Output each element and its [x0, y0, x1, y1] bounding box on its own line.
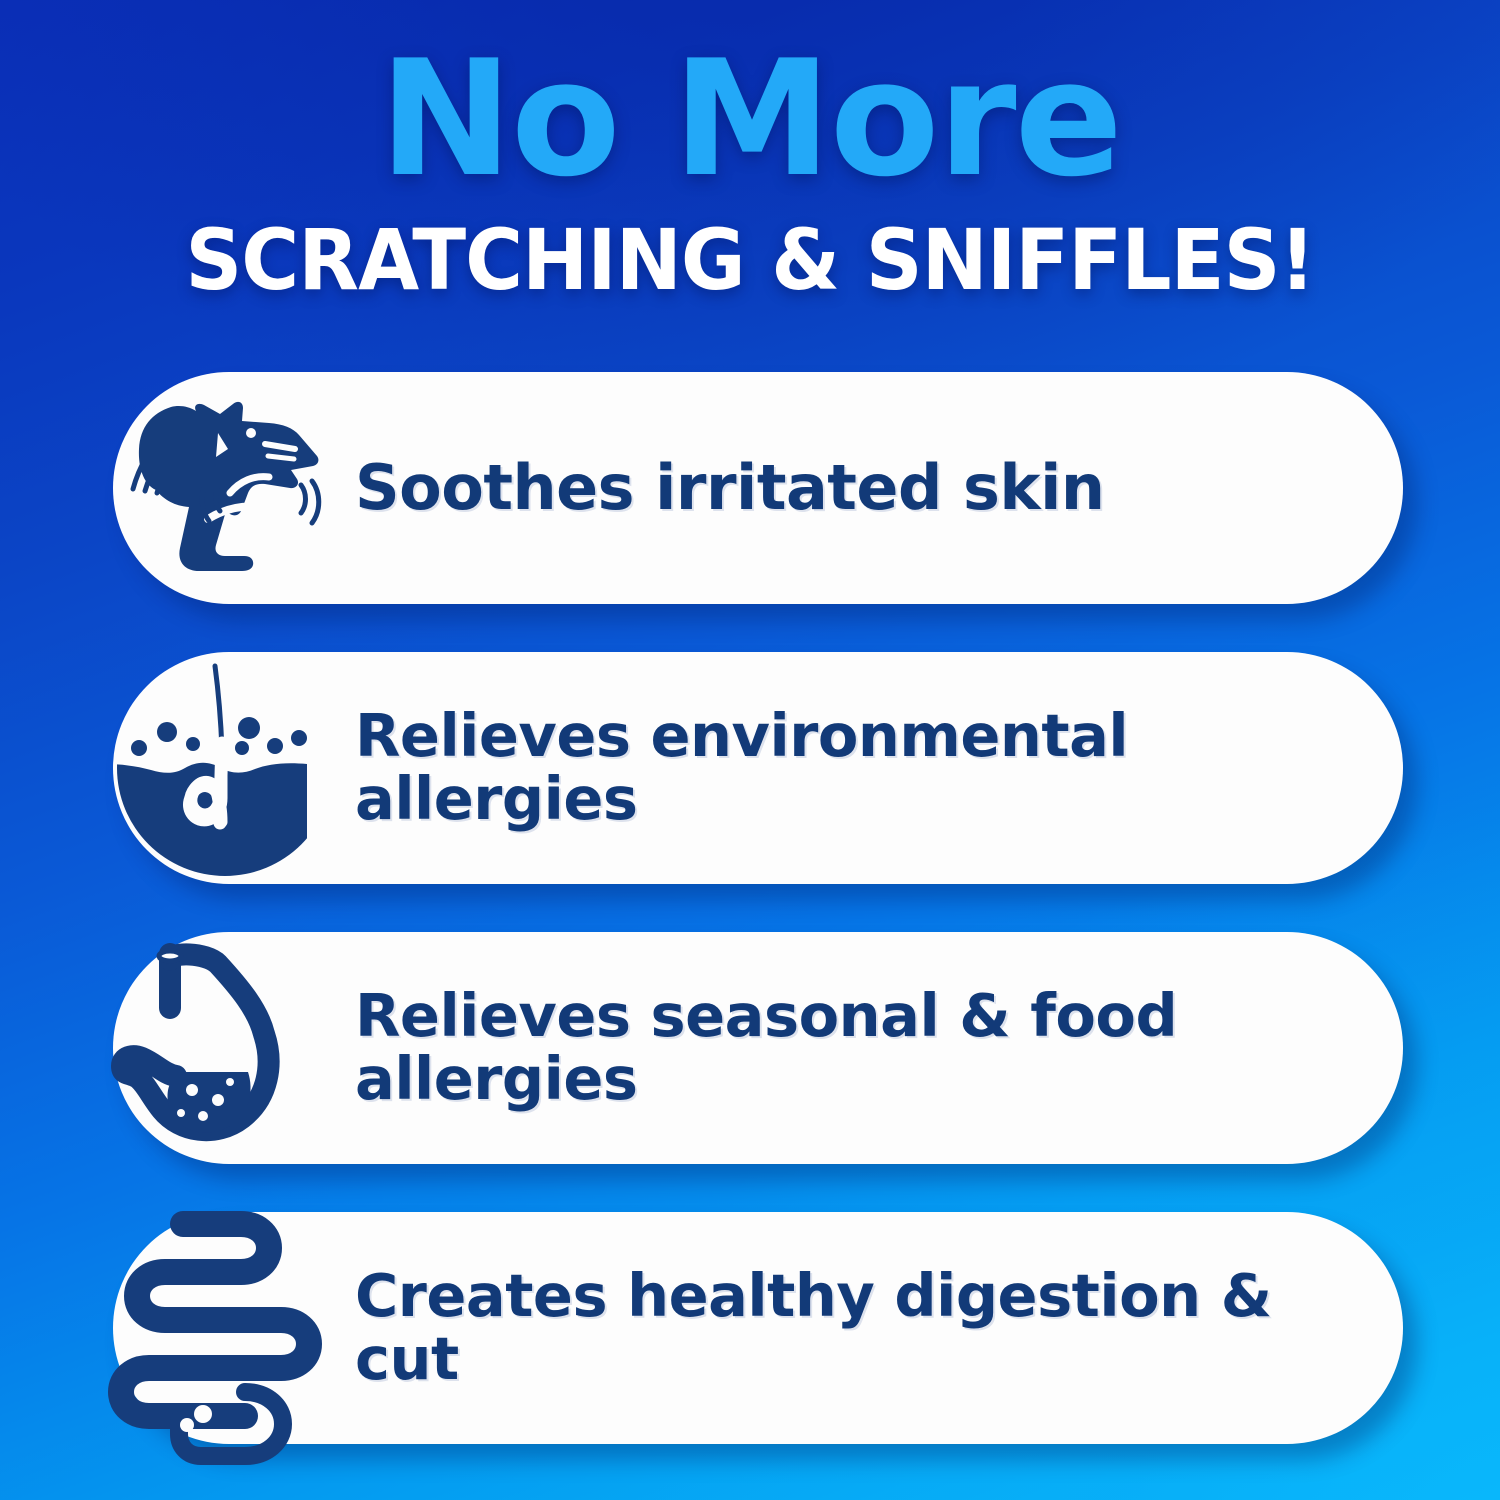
list-item[interactable]: Soothes irritated skin — [113, 372, 1403, 604]
list-item[interactable]: Relieves seasonal & food allergies — [113, 932, 1403, 1164]
benefits-list: Soothes irritated skin — [113, 372, 1403, 1444]
list-item-label: Relieves environmental allergies — [355, 705, 1403, 830]
scratching-dog-icon — [95, 372, 355, 604]
list-item-label: Creates healthy digestion & cut — [355, 1265, 1403, 1390]
page-subtitle: SCRATCHING & SNIFFLES! — [45, 218, 1455, 302]
hair-follicle-allergen-icon — [95, 652, 355, 884]
promo-poster: No More SCRATCHING & SNIFFLES! — [0, 0, 1500, 1500]
list-item-label: Relieves seasonal & food allergies — [355, 985, 1403, 1110]
list-item[interactable]: Relieves environmental allergies — [113, 652, 1403, 884]
poster-heading-block: No More SCRATCHING & SNIFFLES! — [0, 0, 1500, 302]
list-item[interactable]: Creates healthy digestion & cut — [113, 1212, 1403, 1444]
stomach-icon — [95, 932, 355, 1164]
list-item-label: Soothes irritated skin — [355, 455, 1403, 521]
intestine-gut-icon — [95, 1212, 355, 1444]
page-title: No More — [0, 42, 1500, 196]
